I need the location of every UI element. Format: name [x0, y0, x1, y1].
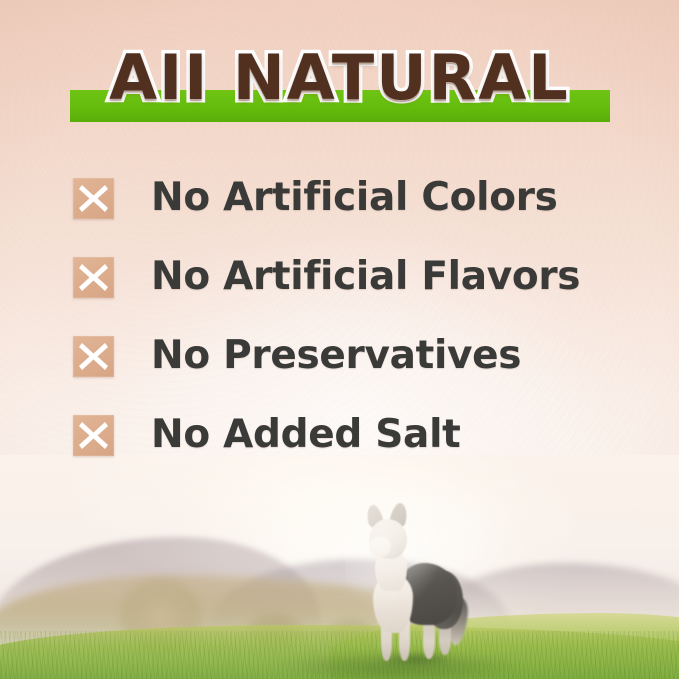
list-item: No Artificial Flavors [73, 257, 613, 336]
list-item-label: No Artificial Colors [151, 174, 558, 222]
x-mark-icon [73, 257, 114, 298]
list-item: No Preservatives [73, 336, 613, 415]
x-mark-icon [73, 178, 114, 219]
x-mark-icon [73, 336, 114, 377]
list-item-label: No Artificial Flavors [151, 253, 580, 301]
list-item-label: No Added Salt [151, 411, 461, 459]
list-item: No Added Salt [73, 415, 613, 494]
page-title: AII NATURAL [0, 47, 679, 109]
x-mark-icon [73, 415, 114, 456]
all-natural-feature-card: AII NATURAL No Artificial Colors No Arti… [0, 0, 679, 679]
list-item: No Artificial Colors [73, 178, 613, 257]
dog [355, 503, 473, 661]
feature-list: No Artificial Colors No Artificial Flavo… [73, 178, 613, 494]
list-item-label: No Preservatives [151, 332, 521, 380]
